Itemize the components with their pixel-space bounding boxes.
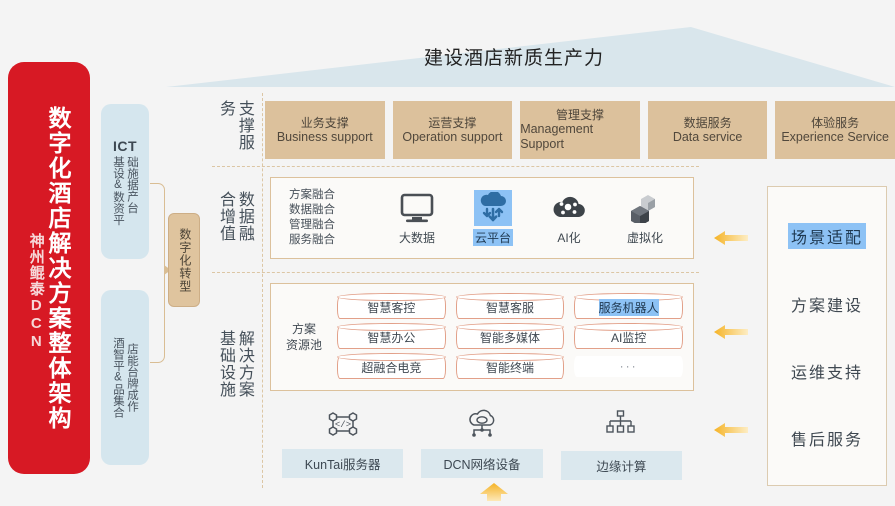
ict-text-col-left: 基设&数资平 — [111, 156, 125, 226]
pool-item-3[interactable]: 服务机器人 — [574, 296, 683, 319]
pool-label-line2: 资源池 — [271, 337, 337, 353]
pool-item-label: 智能多媒体 — [480, 329, 540, 346]
svg-text:</>: </> — [335, 420, 351, 430]
ict-platform-box: ICT 础施据产台 基设&数资平 — [101, 104, 149, 259]
pool-item-8[interactable]: 智能终端 — [456, 356, 565, 379]
fusion-text-4: 服务融合 — [289, 233, 375, 248]
hotel-platform-box: 店能台牌成作 酒智平&品集合 — [101, 290, 149, 465]
row-label-solution: 解决方案基础设施 — [206, 285, 262, 455]
infrastructure-item-1[interactable]: </>KunTai服务器 — [282, 409, 403, 483]
hotel-text-col-left: 酒智平&品集合 — [111, 337, 125, 418]
support-service-cn: 体验服务 — [811, 116, 859, 130]
cloud-network-icon — [464, 409, 500, 444]
fusion-item-label: 虚拟化 — [627, 229, 663, 246]
pool-item-label: 智慧办公 — [367, 329, 415, 346]
roof-title: 建设酒店新质生产力 — [424, 43, 604, 70]
upward-arrow-icon — [479, 483, 509, 506]
pool-item-label: AI监控 — [611, 329, 646, 346]
cubes-icon — [628, 190, 662, 226]
infrastructure-row: </>KunTai服务器DCN网络设备边缘计算 — [270, 409, 694, 483]
pool-item-label: 智慧客服 — [486, 299, 534, 316]
infrastructure-item-label: 边缘计算 — [561, 451, 682, 480]
pool-item-label: 超融合电竞 — [361, 359, 421, 376]
row-label-data-fusion: 数据融合增值 — [206, 179, 262, 259]
support-service-box-5[interactable]: 体验服务Experience Service — [775, 101, 895, 159]
lifecycle-item-1[interactable]: 场景适配 — [788, 223, 866, 249]
support-service-cn: 运营支撑 — [428, 116, 476, 130]
horizontal-divider-2 — [212, 272, 699, 273]
fusion-icon-list: 大数据云平台AI化虚拟化 — [379, 190, 683, 246]
support-service-box-1[interactable]: 业务支撑Business support — [265, 101, 385, 159]
fusion-item-虚拟化[interactable]: 虚拟化 — [607, 190, 683, 246]
stack-bracket — [150, 183, 165, 363]
pool-item-9[interactable]: ··· — [574, 356, 683, 377]
infrastructure-item-label: DCN网络设备 — [421, 449, 542, 478]
digital-transformation-badge: 数字化转型 — [168, 213, 200, 307]
row-label-support: 支撑服务 — [206, 100, 262, 160]
support-services-row: 业务支撑Business support运营支撑Operation suppor… — [265, 101, 895, 159]
support-service-en: Operation support — [402, 130, 502, 145]
lifecycle-item-3[interactable]: 运维支持 — [791, 359, 863, 383]
infrastructure-item-label: KunTai服务器 — [282, 449, 403, 478]
data-fusion-block: 方案融合数据融合管理融合服务融合 大数据云平台AI化虚拟化 — [270, 177, 694, 259]
fusion-item-label: 大数据 — [399, 229, 435, 246]
infrastructure-item-2[interactable]: DCN网络设备 — [421, 409, 542, 483]
title-banner: 数字化酒店解决方案整体架构 神州鲲泰DCN — [8, 62, 90, 474]
edge-node-icon — [606, 409, 636, 446]
row-label-data-fusion-text: 数据融合增值 — [215, 191, 253, 247]
left-arrow-icon-3 — [714, 423, 748, 437]
horizontal-divider-1 — [212, 166, 699, 167]
ict-label: ICT — [113, 138, 137, 154]
cloud-sync-icon — [474, 190, 512, 226]
vertical-divider — [262, 93, 263, 488]
support-service-en: Management Support — [520, 122, 640, 152]
pool-item-label: 智慧客控 — [367, 299, 415, 316]
left-arrow-icon-1 — [714, 231, 748, 245]
pool-item-2[interactable]: 智慧客服 — [456, 296, 565, 319]
support-service-box-3[interactable]: 管理支撑Management Support — [520, 101, 640, 159]
pool-item-label: 智能终端 — [486, 359, 534, 376]
support-service-en: Business support — [277, 130, 373, 145]
banner-main-title: 数字化酒店解决方案整体架构 — [46, 106, 70, 431]
row-label-solution-text: 解决方案基础设施 — [215, 330, 253, 410]
pool-item-1[interactable]: 智慧客控 — [337, 296, 446, 319]
pool-item-7[interactable]: 超融合电竞 — [337, 356, 446, 379]
lifecycle-item-4[interactable]: 售后服务 — [791, 426, 863, 450]
fusion-text-2: 数据融合 — [289, 203, 375, 218]
left-arrow-icon-2 — [714, 325, 748, 339]
banner-sub-title: 神州鲲泰DCN — [28, 233, 44, 351]
support-service-en: Data service — [673, 130, 742, 145]
support-service-cn: 管理支撑 — [556, 108, 604, 122]
fusion-item-label: 云平台 — [473, 229, 513, 246]
support-service-cn: 业务支撑 — [301, 116, 349, 130]
lifecycle-item-2[interactable]: 方案建设 — [791, 292, 863, 316]
server-cluster-icon: </> — [326, 409, 360, 444]
pool-item-5[interactable]: 智能多媒体 — [456, 326, 565, 349]
row-label-support-text: 支撑服务 — [215, 100, 253, 160]
fusion-item-label: AI化 — [557, 229, 580, 246]
fusion-item-云平台[interactable]: 云平台 — [455, 190, 531, 246]
pool-item-label: ··· — [620, 359, 638, 373]
support-service-cn: 数据服务 — [684, 116, 732, 130]
pool-item-4[interactable]: 智慧办公 — [337, 326, 446, 349]
monitor-icon — [400, 190, 434, 226]
digital-transformation-label: 数字化转型 — [177, 228, 191, 293]
fusion-text-3: 管理融合 — [289, 218, 375, 233]
support-service-box-4[interactable]: 数据服务Data service — [648, 101, 768, 159]
support-service-en: Experience Service — [781, 130, 889, 145]
pool-label: 方案资源池 — [271, 321, 337, 353]
hotel-text-col-right: 店能台牌成作 — [125, 343, 139, 412]
fusion-text-1: 方案融合 — [289, 188, 375, 203]
pool-item-6[interactable]: AI监控 — [574, 326, 683, 349]
pool-grid: 智慧客控智慧客服服务机器人智慧办公智能多媒体AI监控超融合电竞智能终端··· — [337, 296, 693, 379]
pool-label-line1: 方案 — [271, 321, 337, 337]
ict-text-col-right: 础施据产台 — [125, 156, 139, 226]
solution-resource-pool: 方案资源池 智慧客控智慧客服服务机器人智慧办公智能多媒体AI监控超融合电竞智能终… — [270, 283, 694, 391]
fusion-item-AI化[interactable]: AI化 — [531, 190, 607, 246]
support-service-box-2[interactable]: 运营支撑Operation support — [393, 101, 513, 159]
pool-item-label: 服务机器人 — [599, 299, 659, 316]
service-lifecycle-panel: 场景适配方案建设运维支持售后服务 — [767, 186, 887, 486]
fusion-text-list: 方案融合数据融合管理融合服务融合 — [289, 188, 375, 249]
fusion-item-大数据[interactable]: 大数据 — [379, 190, 455, 246]
infrastructure-item-3[interactable]: 边缘计算 — [561, 409, 682, 483]
ai-cloud-icon — [551, 190, 587, 226]
